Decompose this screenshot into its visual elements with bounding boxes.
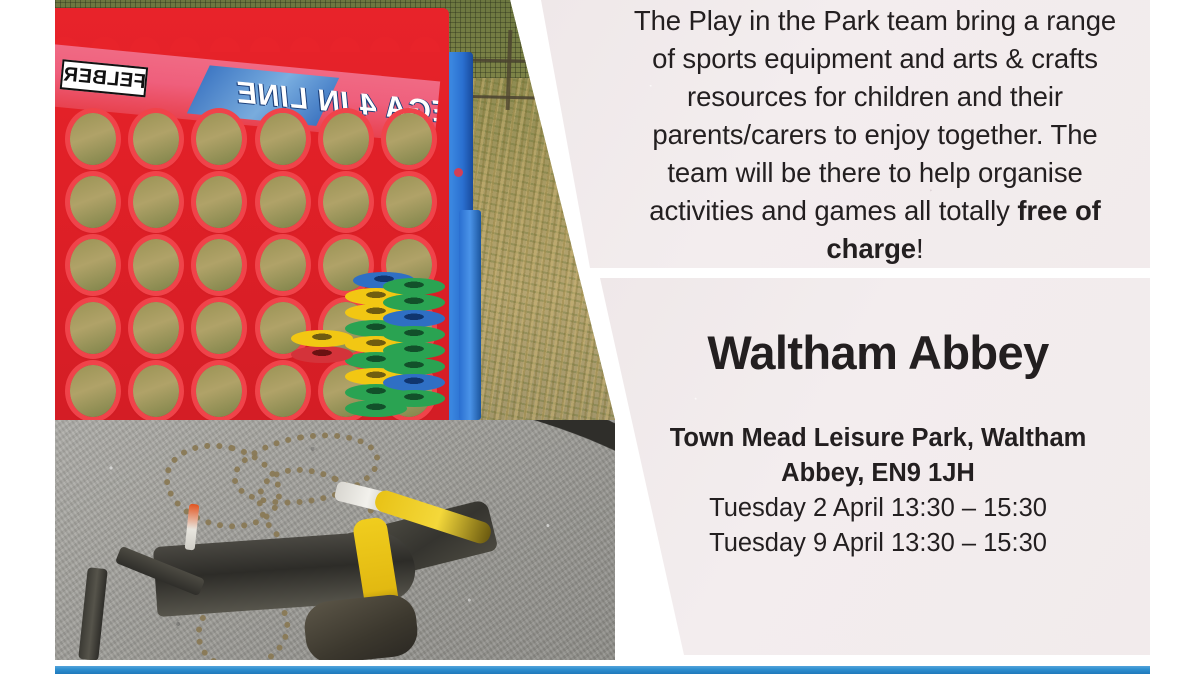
connect-four-blue-leg-lower — [459, 210, 481, 420]
venue-session-2: Tuesday 9 April 13:30 – 15:30 — [658, 526, 1098, 561]
venue-session-1: Tuesday 2 April 13:30 – 15:30 — [658, 491, 1098, 526]
board-hole — [260, 176, 306, 228]
bottom-accent-rule — [55, 666, 1150, 674]
intro-exclamation: ! — [916, 233, 924, 264]
board-hole — [260, 365, 306, 417]
board-hole — [323, 176, 369, 228]
board-hole — [260, 302, 306, 354]
brand-badge-label: FELBER — [62, 63, 147, 94]
counter-green — [383, 326, 445, 343]
board-hole — [323, 113, 369, 165]
intro-paragraph: need to book, just drop in at any time! … — [625, 0, 1125, 268]
photo-bike-repair — [55, 420, 615, 660]
counter-blue — [383, 374, 445, 391]
counter-blue — [383, 310, 445, 327]
board-hole — [70, 176, 116, 228]
board-hole — [386, 113, 432, 165]
venue-details: Town Mead Leisure Park, Waltham Abbey, E… — [658, 421, 1098, 561]
counter-green — [383, 358, 445, 375]
counter-green — [383, 342, 445, 359]
venue-address-line-2: Abbey, EN9 1JH — [658, 456, 1098, 491]
counter-green — [383, 278, 445, 295]
board-hole — [133, 176, 179, 228]
board-hole — [196, 239, 242, 291]
counter-green — [383, 294, 445, 311]
poster-page: FELBER MEGA 4 IN LINE — [0, 0, 1200, 675]
photo-giant-connect-four: FELBER MEGA 4 IN LINE — [55, 0, 617, 420]
board-hole — [196, 113, 242, 165]
counter-green — [383, 390, 445, 407]
board-hole — [196, 365, 242, 417]
intro-line-2: of sports equipment and arts & crafts — [652, 43, 1098, 74]
intro-line-4: parents/carers to enjoy together. The — [652, 119, 1097, 150]
counter-yellow — [291, 330, 353, 347]
intro-text-panel: need to book, just drop in at any time! … — [541, 0, 1150, 268]
bike-lock — [302, 592, 420, 660]
intro-line-6: activities and games all totally — [649, 195, 1017, 226]
board-hole — [70, 239, 116, 291]
intro-line-3: resources for children and their — [687, 81, 1063, 112]
venue-name: Waltham Abbey — [658, 326, 1098, 380]
board-scalloped-top — [55, 8, 449, 52]
intro-line-1: The Play in the Park team bring a range — [634, 5, 1116, 36]
connect-four-leg-pin — [454, 168, 463, 177]
board-hole — [70, 302, 116, 354]
board-hole — [260, 239, 306, 291]
intro-emphasis-charge: charge — [826, 233, 916, 264]
intro-line-5: team will be there to help organise — [667, 157, 1082, 188]
board-hole — [133, 365, 179, 417]
counter-red — [291, 346, 353, 363]
board-hole — [133, 302, 179, 354]
venue-address-line-1: Town Mead Leisure Park, Waltham — [658, 421, 1098, 456]
board-hole — [70, 365, 116, 417]
board-hole — [196, 176, 242, 228]
board-hole — [70, 113, 116, 165]
intro-emphasis-free-of: free of — [1017, 195, 1100, 226]
board-hole — [133, 113, 179, 165]
board-hole — [196, 302, 242, 354]
board-hole — [133, 239, 179, 291]
counter-stacks — [343, 272, 429, 420]
venue-panel: Waltham Abbey Town Mead Leisure Park, Wa… — [596, 278, 1150, 655]
brand-badge: FELBER — [60, 59, 148, 97]
board-hole — [260, 113, 306, 165]
board-hole — [386, 176, 432, 228]
